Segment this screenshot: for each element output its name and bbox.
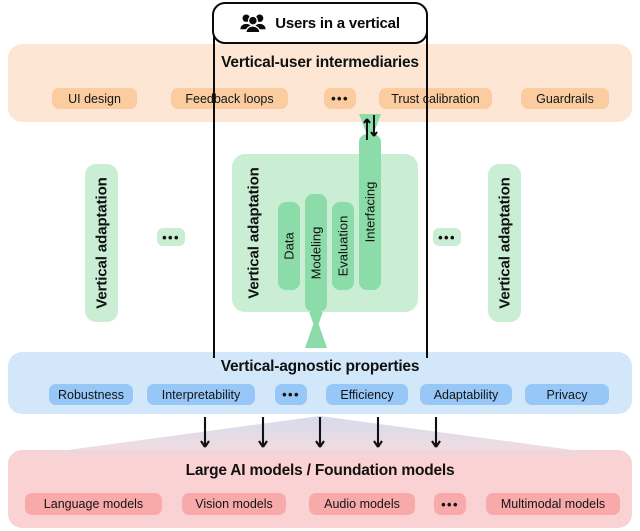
chip-label: Trust calibration [391, 92, 479, 106]
chip-label: Robustness [58, 388, 124, 402]
inner-pill-label: Modeling [309, 227, 324, 280]
bracket-line-left [213, 22, 215, 358]
intermediaries-title: Vertical-user intermediaries [0, 54, 640, 72]
chip-feedback-loops[interactable]: Feedback loops [171, 88, 288, 109]
ellipsis-icon: ••• [441, 498, 459, 511]
inner-pill-data[interactable]: Data [278, 202, 300, 290]
chip-label: Audio models [324, 497, 400, 511]
inner-pill-interfacing[interactable]: Interfacing [359, 134, 381, 290]
vertical-adaptation-pill-center[interactable]: Vertical adaptation [237, 160, 270, 306]
chip-trust-calibration[interactable]: Trust calibration [379, 88, 492, 109]
chip-label: Efficiency [340, 388, 393, 402]
chip-label: Interpretability [162, 388, 241, 402]
chip-agnostic-ellipsis: ••• [275, 384, 307, 405]
ellipsis-icon: ••• [162, 231, 180, 244]
chip-ui-design[interactable]: UI design [52, 88, 137, 109]
vertical-adaptation-pill-right[interactable]: Vertical adaptation [488, 164, 521, 322]
chip-label: Multimodal models [501, 497, 605, 511]
ellipsis-icon: ••• [282, 388, 300, 401]
chip-label: Language models [44, 497, 143, 511]
chip-guardrails[interactable]: Guardrails [521, 88, 609, 109]
diagram-canvas: Users in a vertical Vertical-user interm… [0, 0, 640, 531]
chip-audio-models[interactable]: Audio models [309, 493, 415, 515]
inner-pill-label: Interfacing [363, 182, 378, 243]
adaptation-ellipsis-right: ••• [433, 228, 461, 246]
chip-adaptability[interactable]: Adaptability [420, 384, 512, 405]
up-down-arrow-icon [362, 114, 379, 146]
chip-multimodal-models[interactable]: Multimodal models [486, 493, 620, 515]
inner-pill-label: Data [282, 232, 297, 259]
users-in-a-vertical-box[interactable]: Users in a vertical [212, 2, 428, 44]
model-arrows-group [0, 414, 640, 460]
users-group-icon [240, 13, 266, 33]
chip-label: Guardrails [536, 92, 594, 106]
users-box-label: Users in a vertical [275, 15, 400, 32]
chip-label: Vision models [195, 497, 273, 511]
agnostic-title: Vertical-agnostic properties [0, 358, 640, 376]
inner-pill-label: Evaluation [336, 216, 351, 277]
ellipsis-icon: ••• [438, 231, 456, 244]
chip-label: UI design [68, 92, 121, 106]
vertical-adaptation-pill-left[interactable]: Vertical adaptation [85, 164, 118, 322]
chip-vision-models[interactable]: Vision models [182, 493, 286, 515]
chip-language-models[interactable]: Language models [25, 493, 162, 515]
chip-foundation-ellipsis: ••• [434, 493, 466, 515]
ellipsis-icon: ••• [331, 92, 349, 105]
inner-pill-evaluation[interactable]: Evaluation [332, 202, 354, 290]
foundation-title: Large AI models / Foundation models [0, 462, 640, 480]
vertical-adaptation-label: Vertical adaptation [496, 177, 513, 308]
adaptation-ellipsis-left: ••• [157, 228, 185, 246]
chip-label: Adaptability [434, 388, 499, 402]
chip-interpretability[interactable]: Interpretability [147, 384, 255, 405]
chip-robustness[interactable]: Robustness [49, 384, 133, 405]
vertical-adaptation-label: Vertical adaptation [93, 177, 110, 308]
chip-efficiency[interactable]: Efficiency [326, 384, 408, 405]
chip-label: Feedback loops [185, 92, 273, 106]
chip-intermediaries-ellipsis: ••• [324, 88, 356, 109]
vertical-adaptation-label: Vertical adaptation [245, 167, 262, 298]
chip-privacy[interactable]: Privacy [525, 384, 609, 405]
bracket-line-right [426, 22, 428, 358]
chip-label: Privacy [547, 388, 588, 402]
inner-pill-modeling[interactable]: Modeling [305, 194, 327, 312]
